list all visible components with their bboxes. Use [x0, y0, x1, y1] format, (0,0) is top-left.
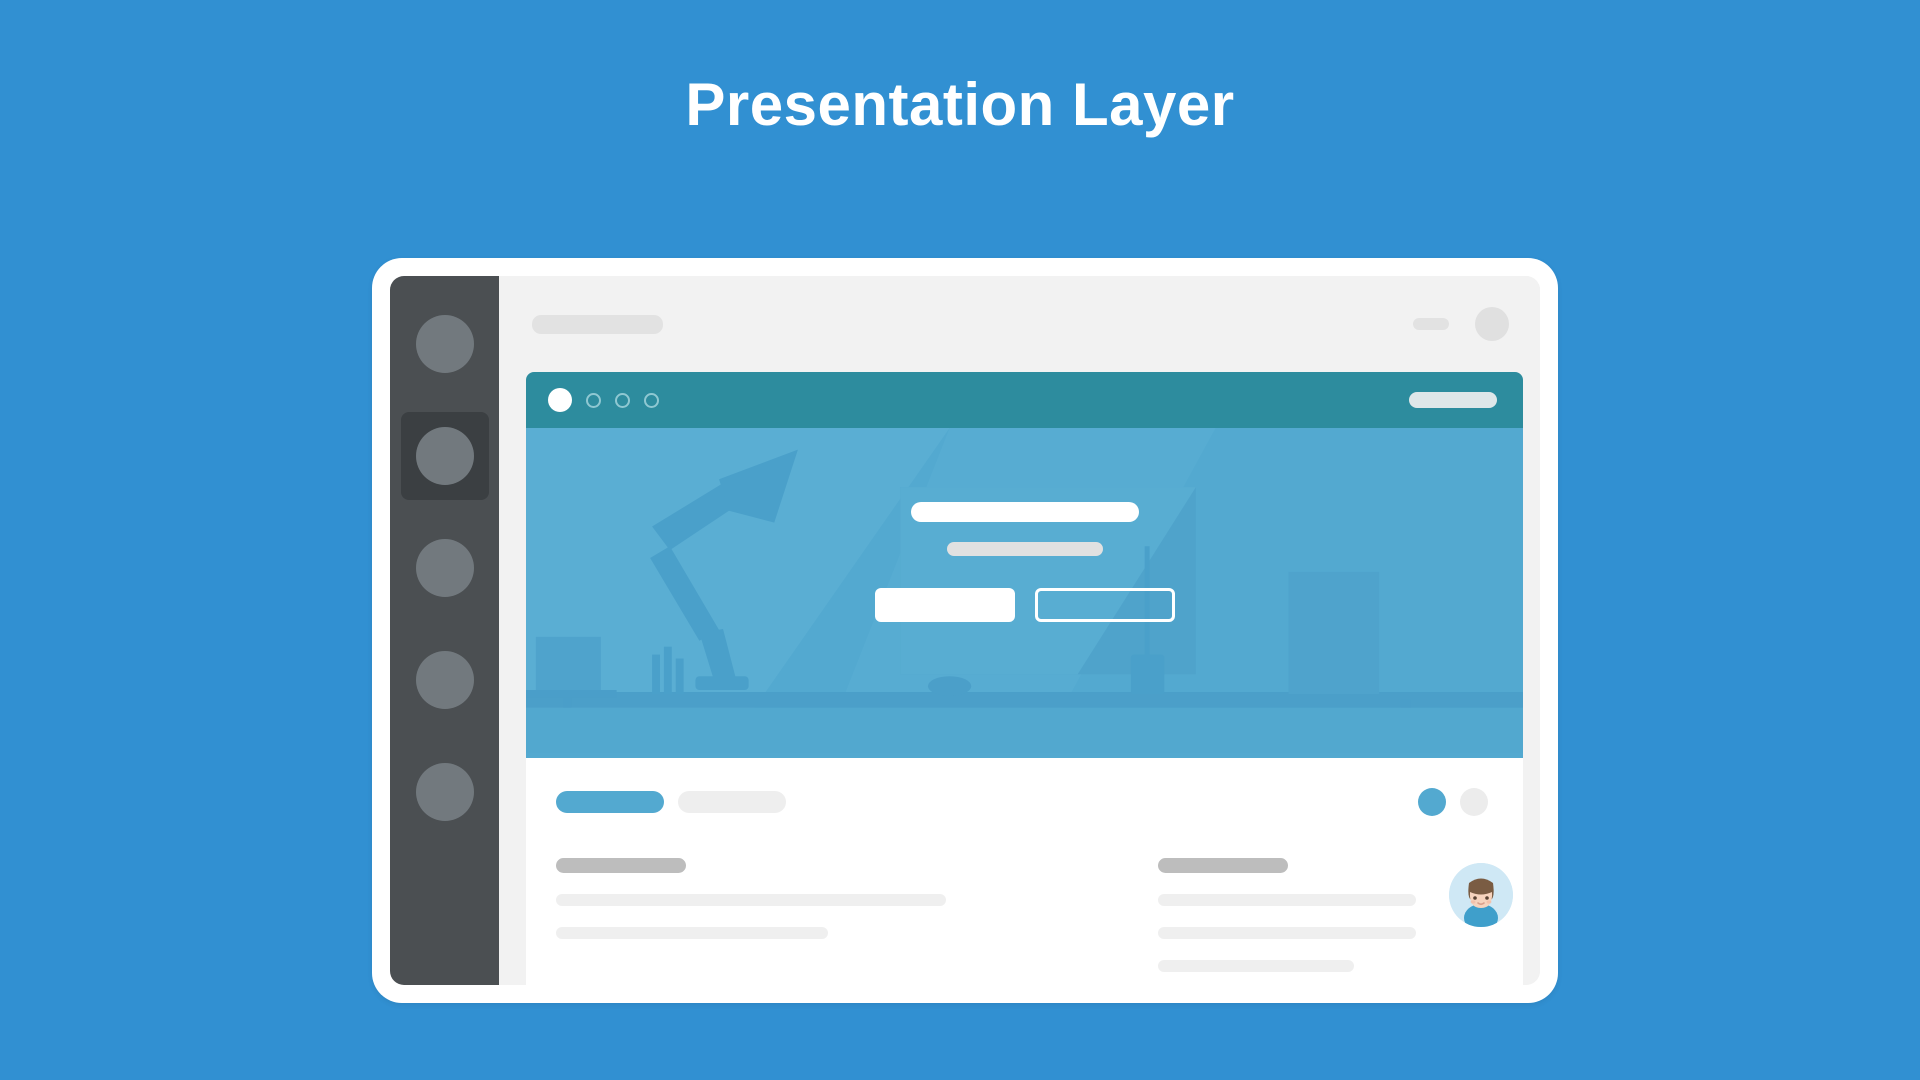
- app-bar-controls: [1413, 307, 1509, 341]
- nav-circle-icon-5: [416, 763, 474, 821]
- nav-circle-icon-4: [416, 651, 474, 709]
- tab-one[interactable]: [556, 791, 664, 813]
- device-screen: [390, 276, 1540, 985]
- hero-primary-button[interactable]: [875, 588, 1015, 622]
- sidebar-item-5[interactable]: [401, 748, 489, 836]
- column-left-line-1: [556, 894, 946, 906]
- content-column-left: [556, 858, 1076, 972]
- column-left-heading: [556, 858, 686, 873]
- app-bar-title-placeholder: [532, 315, 663, 334]
- browser-toolbar: [526, 372, 1523, 428]
- browser-dot-open-3[interactable]: [644, 393, 659, 408]
- content-top-row: [556, 788, 1488, 816]
- sidebar-item-2[interactable]: [401, 412, 489, 500]
- pager-dot-two[interactable]: [1460, 788, 1488, 816]
- column-left-line-2: [556, 927, 828, 939]
- browser-dot-filled[interactable]: [548, 388, 572, 412]
- browser-dot-open-1[interactable]: [586, 393, 601, 408]
- avatar-person-icon: [1449, 863, 1513, 927]
- sidebar-icon-rail: [390, 276, 499, 985]
- column-right-line-1: [1158, 894, 1416, 906]
- browser-dot-open-2[interactable]: [615, 393, 630, 408]
- hero-headline-placeholder: [911, 502, 1139, 522]
- support-agent-avatar[interactable]: [1449, 863, 1513, 927]
- hero-secondary-button[interactable]: [1035, 588, 1175, 622]
- tab-bar: [556, 791, 786, 813]
- address-bar-field[interactable]: [1409, 392, 1497, 408]
- tab-two[interactable]: [678, 791, 786, 813]
- content-column-right: [1158, 858, 1488, 972]
- sidebar-item-3[interactable]: [401, 524, 489, 612]
- nav-circle-icon-3: [416, 539, 474, 597]
- nav-circle-icon-2: [416, 427, 474, 485]
- browser-window: [526, 372, 1523, 985]
- hero-subheadline-placeholder: [947, 542, 1103, 556]
- main-panel: [499, 276, 1540, 985]
- account-avatar-icon[interactable]: [1475, 307, 1509, 341]
- hero-button-group: [875, 588, 1175, 622]
- hero-content: [526, 502, 1523, 622]
- column-right-line-2: [1158, 927, 1416, 939]
- menu-pill-icon[interactable]: [1413, 318, 1449, 330]
- pagination-dots: [1418, 788, 1488, 816]
- column-right-heading: [1158, 858, 1288, 873]
- sidebar-item-4[interactable]: [401, 636, 489, 724]
- app-bar: [499, 276, 1540, 372]
- sidebar-item-1[interactable]: [401, 300, 489, 388]
- column-right-line-3: [1158, 960, 1354, 972]
- hero-section: [526, 428, 1523, 758]
- content-columns: [556, 858, 1488, 972]
- page-title: Presentation Layer: [0, 72, 1920, 138]
- pager-dot-one[interactable]: [1418, 788, 1446, 816]
- content-area: [526, 758, 1523, 985]
- nav-circle-icon-1: [416, 315, 474, 373]
- tablet-device-frame: [372, 258, 1558, 1003]
